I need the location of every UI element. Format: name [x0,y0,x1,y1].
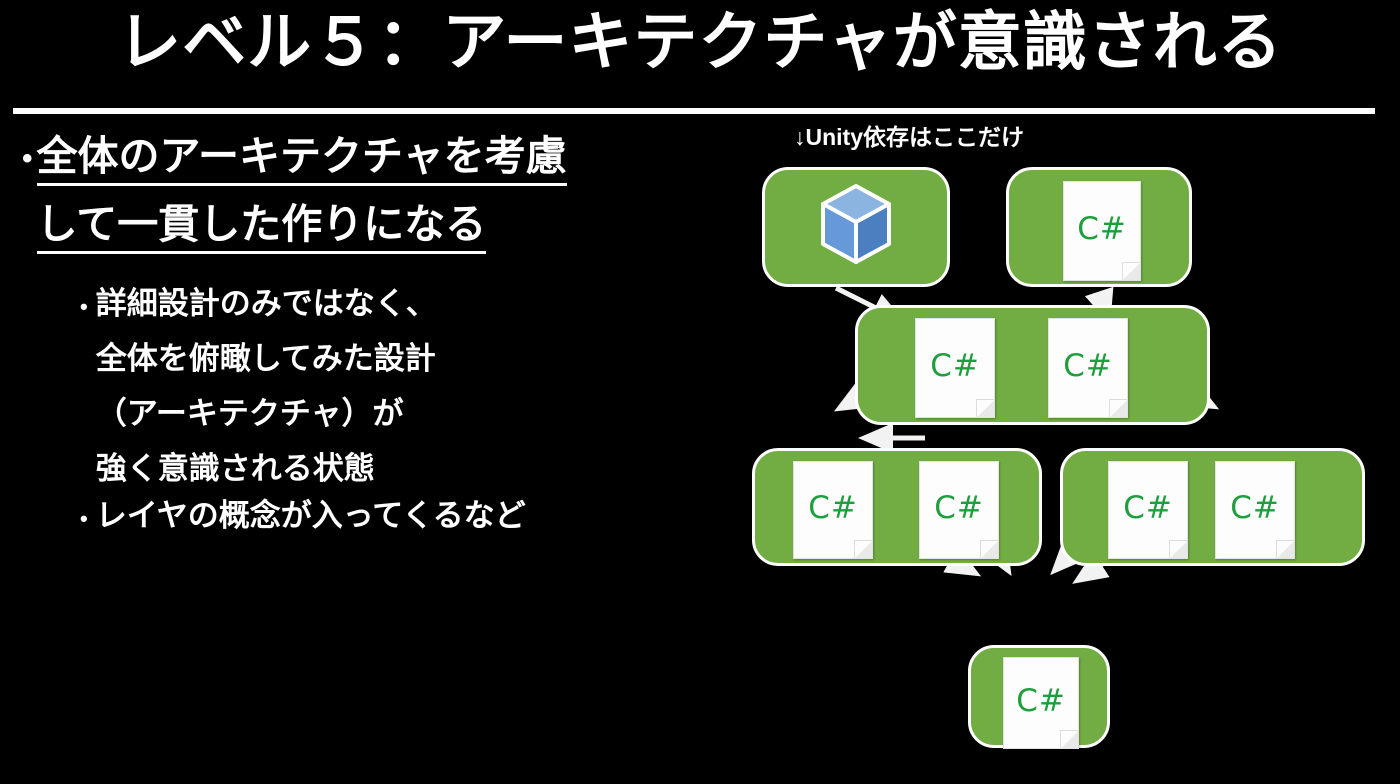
cs-file-icon[interactable]: C# [1048,318,1128,418]
cs-group-bottom[interactable]: C# [968,645,1110,748]
cs-file-label: C# [808,490,858,526]
title-divider [13,108,1375,114]
bullet-list: • 全体のアーキテクチャを考慮 して一貫した作りになる • 詳細設計のみではなく… [22,136,722,547]
cs-file-icon[interactable]: C# [1215,461,1295,559]
cs-file-label: C# [1063,348,1113,384]
sub-bullet-1-line-3: （アーキテクチャ）が [96,398,437,429]
sub-bullet-1: • 詳細設計のみではなく、 全体を俯瞰してみた設計 （アーキテクチャ）が 強く意… [80,288,722,484]
page-fold-icon [854,540,872,558]
sub-bullet-1-line-1: 詳細設計のみではなく、 [96,288,437,319]
page-title: レベル５：アーキテクチャが意識される [0,6,1400,80]
sub-bullet-2: • レイヤの概念が入ってくるなど [80,500,722,531]
page-fold-icon [1169,540,1187,558]
sub-bullet-1-line-4: 強く意識される状態 [96,453,437,484]
cs-file-label: C# [1077,211,1127,247]
unity-cube-icon [813,182,899,268]
cs-group-lower-right[interactable]: C# C# [1060,448,1365,566]
cs-group-middle[interactable]: C# C# [855,305,1210,425]
architecture-diagram: ↓Unity依存はここだけ [730,118,1390,778]
cs-file-label: C# [1230,490,1280,526]
cs-file-label: C# [1016,683,1066,719]
cs-group-unity[interactable] [762,167,950,287]
cs-file-icon[interactable]: C# [1003,657,1079,749]
sub-bullet-2-marker: • [80,500,96,530]
sub-bullet-1-line-2: 全体を俯瞰してみた設計 [96,343,437,374]
page-fold-icon [1276,540,1294,558]
cs-file-label: C# [934,490,984,526]
page-fold-icon [1109,399,1127,417]
unity-dependency-annotation: ↓Unity依存はここだけ [794,118,1024,152]
cs-file-icon[interactable]: C# [1063,181,1141,281]
page-fold-icon [1060,730,1078,748]
cs-file-icon[interactable]: C# [919,461,999,559]
cs-file-label: C# [930,348,980,384]
cs-group-lower-left[interactable]: C# C# [752,448,1042,566]
main-bullet: • 全体のアーキテクチャを考慮 して一貫した作りになる [22,136,722,272]
bullet-marker: • [22,136,37,174]
cs-file-label: C# [1123,490,1173,526]
sub-bullet-2-line-1: レイヤの概念が入ってくるなど [96,500,526,531]
page-fold-icon [976,399,994,417]
slide-root: レベル５：アーキテクチャが意識される • 全体のアーキテクチャを考慮 して一貫し… [0,0,1400,784]
sub-bullet-list: • 詳細設計のみではなく、 全体を俯瞰してみた設計 （アーキテクチャ）が 強く意… [80,288,722,531]
cs-file-icon[interactable]: C# [793,461,873,559]
main-bullet-line-1: 全体のアーキテクチャを考慮 [37,136,567,186]
page-fold-icon [1122,262,1140,280]
main-bullet-line-2: して一貫した作りになる [37,204,487,254]
sub-bullet-1-marker: • [80,288,96,318]
cs-group-top-right[interactable]: C# [1006,167,1192,287]
cs-file-icon[interactable]: C# [1108,461,1188,559]
cs-file-icon[interactable]: C# [915,318,995,418]
page-fold-icon [980,540,998,558]
